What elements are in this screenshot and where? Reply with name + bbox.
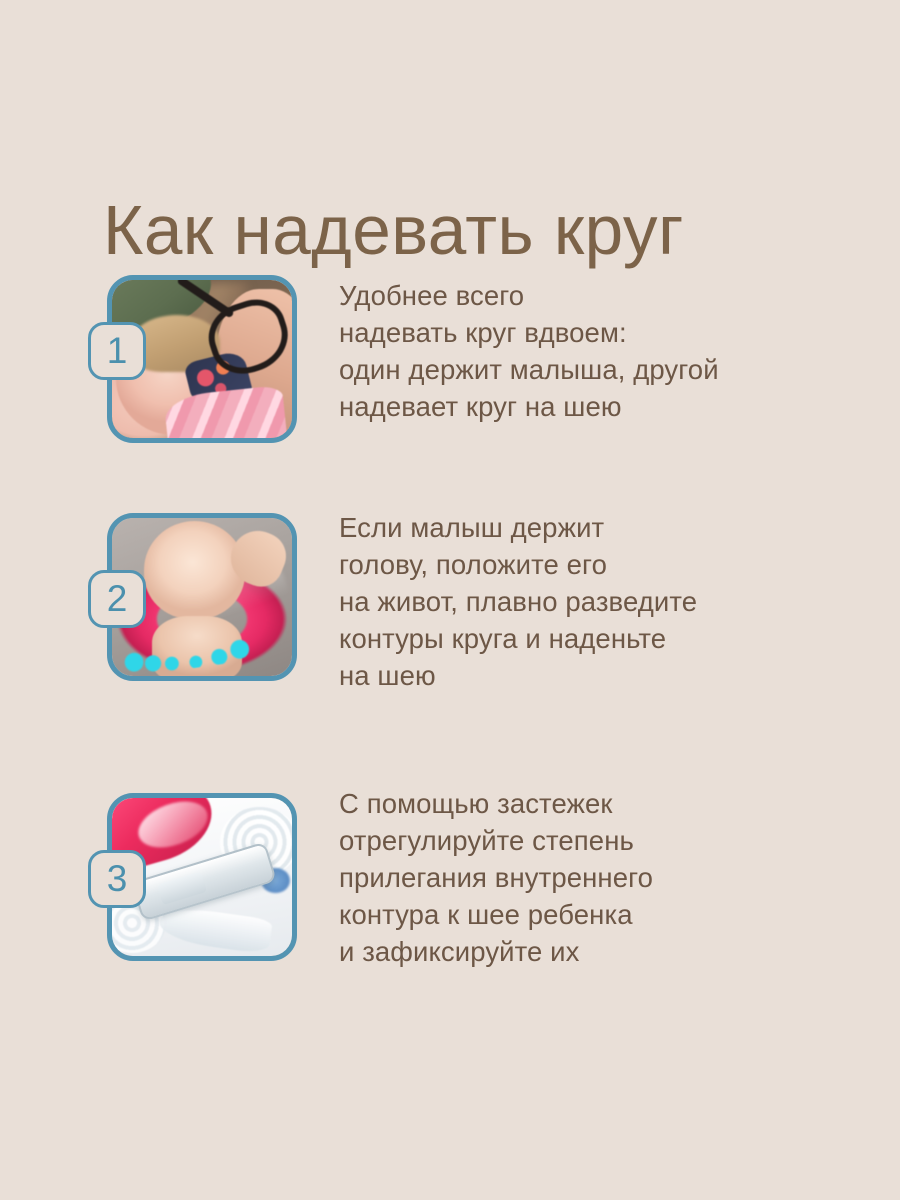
step-3-number-badge: 3 [88,850,146,908]
step-2-description: Если малыш держит голову, положите его н… [339,509,849,694]
infographic-page: Как надевать круг [0,0,900,1200]
step-1-description: Удобнее всего надевать круг вдвоем: один… [339,277,849,425]
page-title: Как надевать круг [103,187,836,273]
step-3-description: С помощью застежек отрегулируйте степень… [339,785,849,970]
step-1-number-badge: 1 [88,322,146,380]
step-2-number-badge: 2 [88,570,146,628]
